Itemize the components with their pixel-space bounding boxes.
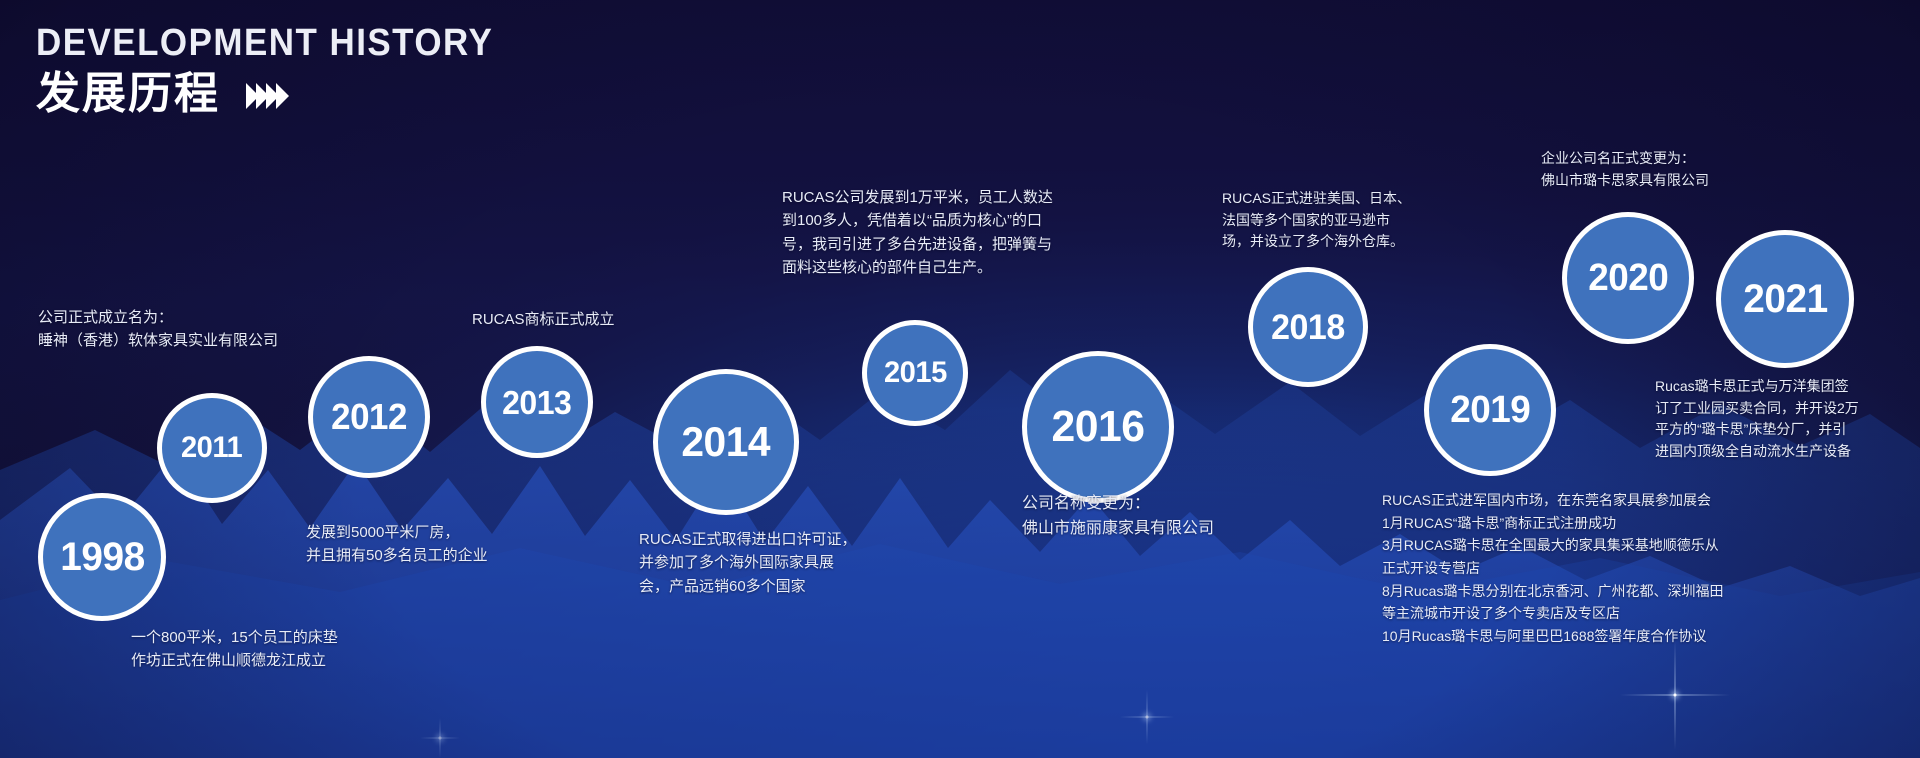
page-header: DEVELOPMENT HISTORY 发展历程: [36, 24, 533, 116]
double-chevron-right-icon: [246, 83, 286, 109]
year-label: 2020: [1588, 259, 1668, 297]
timeline-note-2018: RUCAS正式进驻美国、日本、 法国等多个国家的亚马逊市 场，并设立了多个海外仓…: [1222, 188, 1411, 253]
year-bubble[interactable]: 2012: [308, 356, 430, 478]
timeline-note-2013: RUCAS商标正式成立: [472, 308, 615, 331]
timeline-note-2016: 公司名称变更为： 佛山市施丽康家具有限公司: [1022, 492, 1214, 542]
timeline-infographic: DEVELOPMENT HISTORY 发展历程 1998 一个800平米，15…: [0, 0, 1920, 758]
year-label: 2011: [181, 433, 242, 463]
year-bubble[interactable]: 1998: [38, 493, 166, 621]
timeline-note-2021: Rucas璐卡思正式与万洋集团签 订了工业园买卖合同，并开设2万 平方的“璐卡思…: [1655, 376, 1859, 463]
year-label: 2018: [1271, 310, 1345, 345]
year-bubble[interactable]: 2011: [157, 393, 267, 503]
year-label: 2021: [1743, 279, 1827, 319]
title-english: DEVELOPMENT HISTORY: [36, 24, 493, 64]
year-label: 2013: [502, 386, 571, 419]
year-bubble[interactable]: 2016: [1022, 351, 1174, 503]
timeline-note-2020: 企业公司名正式变更为： 佛山市璐卡思家具有限公司: [1541, 148, 1709, 191]
year-label: 2019: [1450, 391, 1530, 429]
year-label: 2014: [682, 421, 771, 463]
timeline-note-2014: RUCAS正式取得进出口许可证， 并参加了多个海外国际家具展 会，产品远销60多…: [639, 528, 857, 598]
year-bubble[interactable]: 2015: [862, 320, 968, 426]
timeline-note-1998: 一个800平米，15个员工的床垫 作坊正式在佛山顺德龙江成立: [131, 626, 338, 673]
year-bubble[interactable]: 2014: [653, 369, 799, 515]
year-label: 2012: [331, 399, 407, 435]
timeline-note-2019: RUCAS正式进军国内市场，在东莞名家具展参加展会 1月RUCAS“璐卡思”商标…: [1382, 489, 1723, 648]
year-label: 2016: [1051, 405, 1144, 449]
timeline-note-2015: RUCAS公司发展到1万平米，员工人数达 到100多人，凭借着以“品质为核心”的…: [782, 186, 1053, 279]
year-bubble[interactable]: 2021: [1716, 230, 1854, 368]
timeline-note-2011: 公司正式成立名为： 睡神（香港）软体家具实业有限公司: [38, 306, 278, 353]
year-bubble[interactable]: 2020: [1562, 212, 1694, 344]
year-label: 1998: [60, 537, 144, 577]
title-chinese: 发展历程: [36, 72, 220, 116]
timeline-note-2012: 发展到5000平米厂房， 并且拥有50多名员工的企业: [306, 521, 488, 568]
year-label: 2015: [884, 358, 947, 388]
year-bubble[interactable]: 2018: [1248, 267, 1368, 387]
year-bubble[interactable]: 2013: [481, 346, 593, 458]
year-bubble[interactable]: 2019: [1424, 344, 1556, 476]
